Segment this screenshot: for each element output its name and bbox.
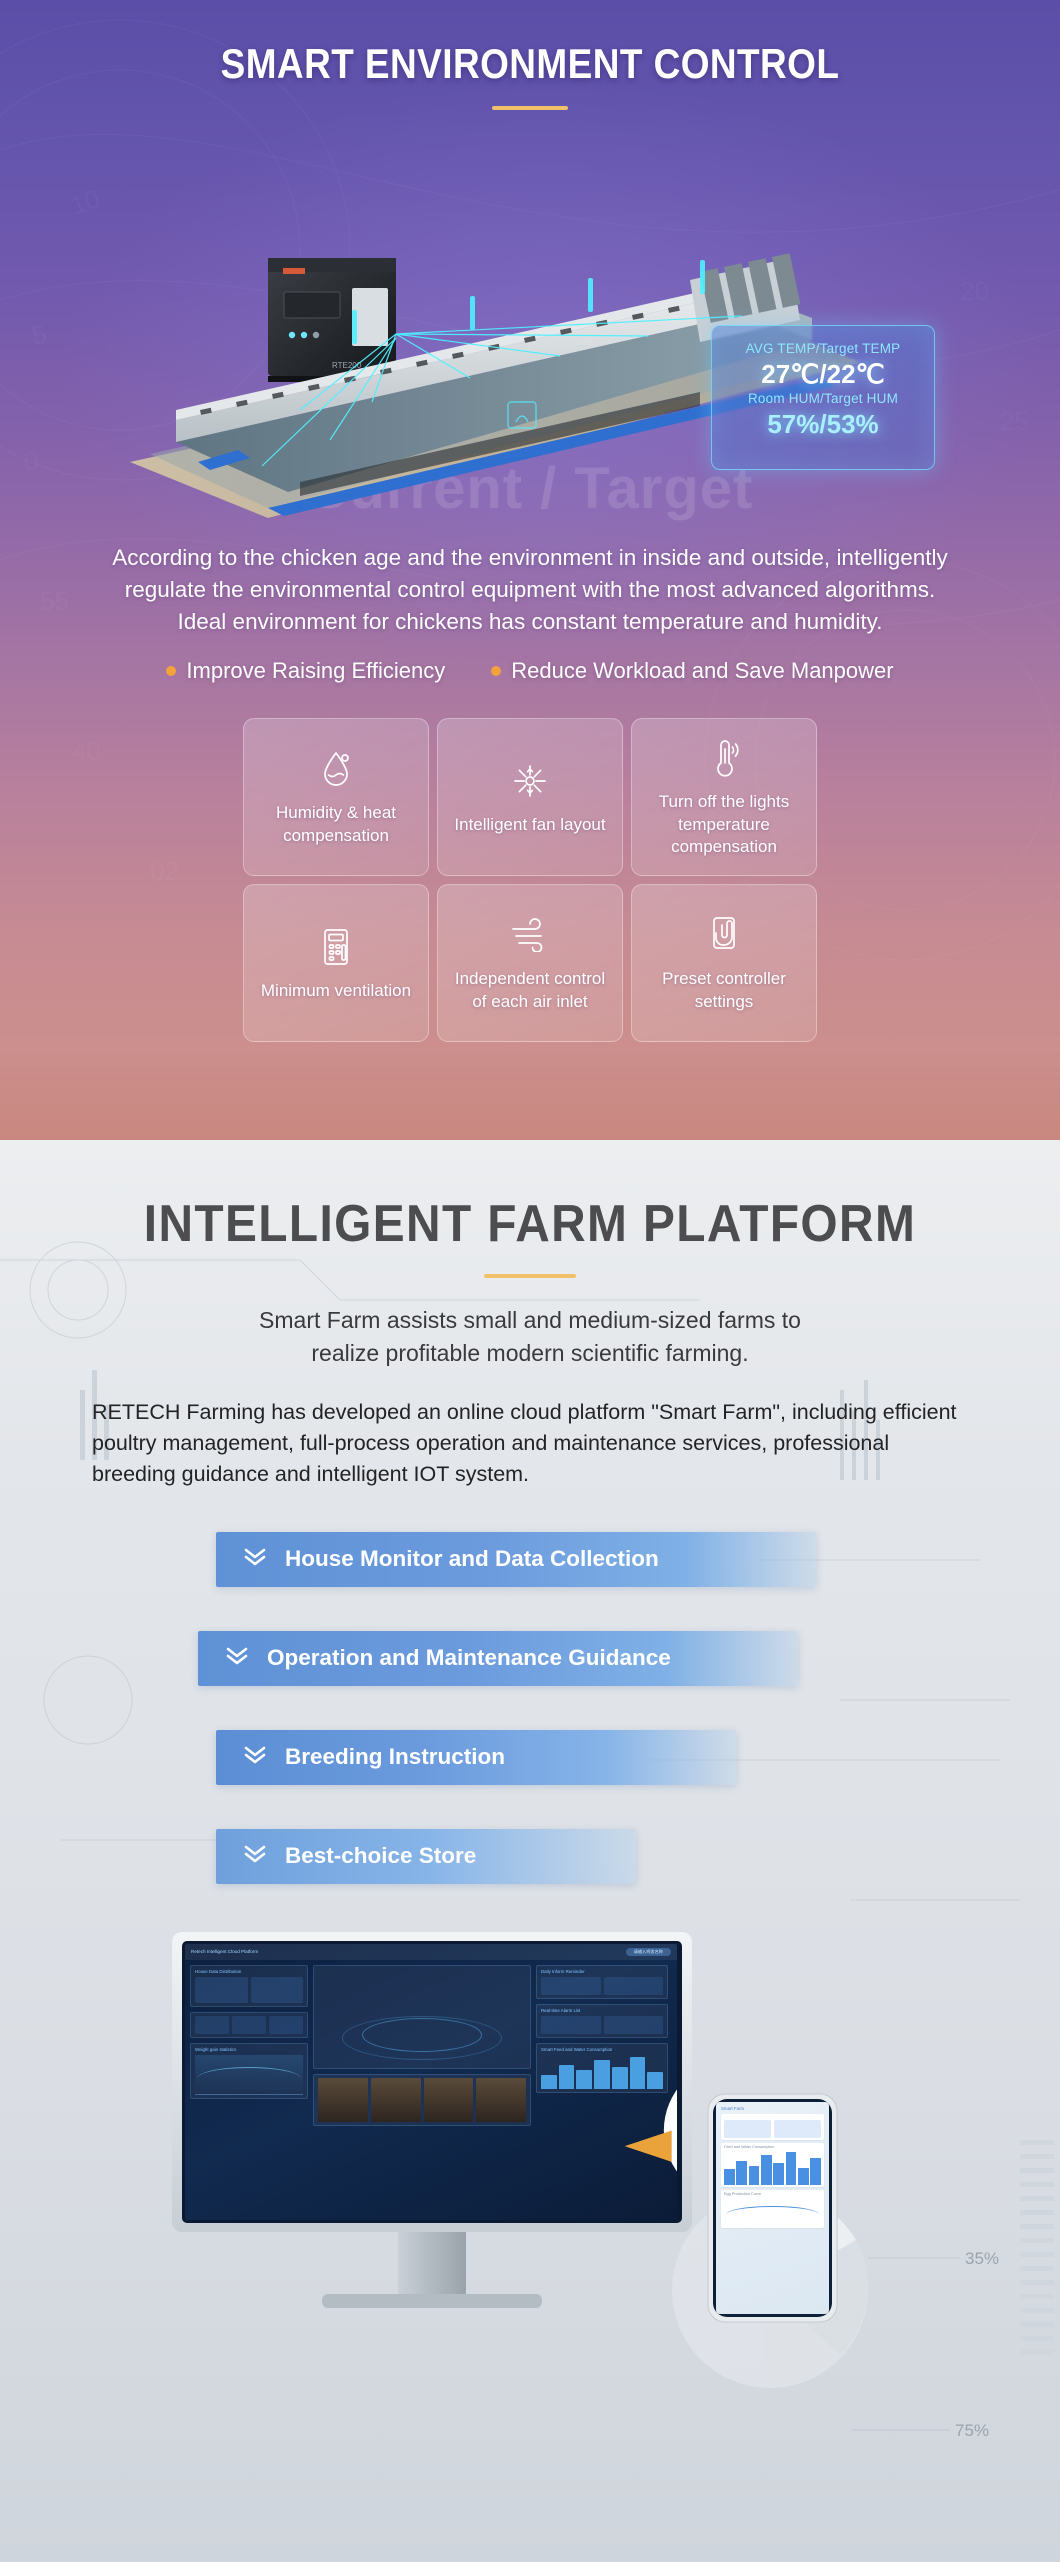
accordion-item-breeding-instruction[interactable]: Breeding Instruction bbox=[216, 1730, 736, 1785]
dashboard-left-column: House Data Distribution bbox=[190, 1965, 308, 2215]
intelligent-farm-platform-section: 35% 75% INTELLIGENT FARM PLATFORM Smart … bbox=[0, 1140, 1060, 2562]
section2-lead: Smart Farm assists small and medium-size… bbox=[0, 1304, 1060, 1371]
kpi-tile bbox=[774, 2120, 821, 2138]
feature-label: Turn off the lights temperature compensa… bbox=[642, 791, 806, 859]
double-chevron-down-icon bbox=[224, 1645, 250, 1671]
section2-title: INTELLIGENT FARM PLATFORM bbox=[42, 1140, 1017, 1254]
benefit-label: Improve Raising Efficiency bbox=[186, 658, 445, 684]
mobile-app-screen: Smart Farm Feed and Water Consumption bbox=[716, 2102, 829, 2314]
mobile-kpi-card bbox=[721, 2114, 824, 2140]
svg-text:RTE200: RTE200 bbox=[332, 361, 362, 370]
room-hum-value: 57%/53% bbox=[712, 408, 934, 441]
section1-description: According to the chicken age and the env… bbox=[0, 530, 1060, 638]
dashboard-center-column bbox=[313, 1965, 531, 2215]
description-line-3: Ideal environment for chickens has const… bbox=[96, 606, 964, 638]
chart-bar bbox=[786, 2152, 797, 2184]
feature-label: Minimum ventilation bbox=[261, 980, 411, 1003]
feature-card[interactable]: Minimum ventilation bbox=[243, 884, 429, 1042]
kpi-row bbox=[724, 2120, 821, 2138]
kpi-row bbox=[195, 2016, 303, 2034]
accordion-row: House Monitor and Data Collection bbox=[0, 1532, 1060, 1587]
chart-bar bbox=[798, 2168, 809, 2185]
bullet-dot-icon bbox=[491, 666, 501, 676]
device-mockups: Retech Intelligent Cloud Platform 请输入鸡舍名… bbox=[0, 1928, 1060, 2398]
feature-card[interactable]: Turn off the lights temperature compensa… bbox=[631, 718, 817, 876]
section2-paragraph: RETECH Farming has developed an online c… bbox=[40, 1397, 1020, 1490]
feature-card[interactable]: Preset controller settings bbox=[631, 884, 817, 1042]
feature-card-grid: Humidity & heat compensation Intelligent… bbox=[240, 718, 820, 1042]
kpi-tile bbox=[195, 2016, 229, 2034]
panel-heading: House Data Distribution bbox=[195, 1969, 303, 1974]
double-chevron-down-icon bbox=[242, 1843, 268, 1869]
feature-label: Independent control of each air inlet bbox=[448, 968, 612, 1013]
chart-bar bbox=[736, 2161, 747, 2185]
feature-card[interactable]: Humidity & heat compensation bbox=[243, 718, 429, 876]
feature-label: Intelligent fan layout bbox=[454, 814, 605, 837]
accordion-label: Operation and Maintenance Guidance bbox=[267, 1645, 671, 1671]
poultry-house-illustration: RTE200 bbox=[0, 110, 1060, 530]
chicken-illustration bbox=[314, 1966, 677, 2220]
mobile-chart-card: Feed and Water Consumption bbox=[721, 2143, 824, 2187]
panel-heading: Weight gain statistics bbox=[195, 2047, 303, 2052]
platform-feature-accordion: House Monitor and Data Collection Operat… bbox=[0, 1532, 1060, 1884]
benefit-label: Reduce Workload and Save Manpower bbox=[511, 658, 893, 684]
benefit-item: Reduce Workload and Save Manpower bbox=[491, 658, 893, 684]
title-underline bbox=[492, 106, 568, 110]
accordion-label: Best-choice Store bbox=[285, 1843, 476, 1869]
desktop-dashboard-screen: Retech Intelligent Cloud Platform 请输入鸡舍名… bbox=[185, 1944, 677, 2220]
svg-text:02: 02 bbox=[150, 856, 179, 886]
avg-temp-value: 27℃/22℃ bbox=[712, 358, 934, 391]
smart-environment-control-section: 10 5 0 55 40 02 20 25 SMART ENVIRONMENT … bbox=[0, 0, 1060, 1140]
mini-tile bbox=[251, 1977, 304, 2003]
bullet-dot-icon bbox=[166, 666, 176, 676]
description-line-1: According to the chicken age and the env… bbox=[96, 542, 964, 574]
dashboard-body: House Data Distribution bbox=[185, 1960, 677, 2220]
avg-temp-label: AVG TEMP/Target TEMP bbox=[712, 340, 934, 358]
kpi-tile bbox=[232, 2016, 266, 2034]
room-hum-label: Room HUM/Target HUM bbox=[712, 390, 934, 408]
chart-bar bbox=[773, 2163, 784, 2184]
water-drop-icon bbox=[319, 746, 353, 792]
mobile-app-header: Smart Farm bbox=[721, 2106, 824, 2111]
mobile-bar-chart bbox=[724, 2151, 821, 2185]
benefit-bullet-list: Improve Raising Efficiency Reduce Worklo… bbox=[0, 658, 1060, 684]
weight-gain-line-chart bbox=[195, 2055, 303, 2095]
chart-bar bbox=[810, 2158, 821, 2185]
wind-airflow-icon bbox=[509, 912, 551, 958]
accordion-row: Breeding Instruction bbox=[0, 1730, 1060, 1785]
accordion-item-best-choice-store[interactable]: Best-choice Store bbox=[216, 1829, 636, 1884]
kpi-tile bbox=[269, 2016, 303, 2034]
calculator-icon bbox=[320, 924, 352, 970]
egg-production-curve bbox=[724, 2196, 821, 2226]
dashboard-panel: House Data Distribution bbox=[190, 1965, 308, 2007]
description-line-2: regulate the environmental control equip… bbox=[96, 574, 964, 606]
kpi-tile bbox=[724, 2120, 771, 2138]
benefit-item: Improve Raising Efficiency bbox=[166, 658, 445, 684]
page-title: SMART ENVIRONMENT CONTROL bbox=[64, 0, 997, 88]
accordion-item-house-monitor[interactable]: House Monitor and Data Collection bbox=[216, 1532, 816, 1587]
mobile-curve-card: Egg Production Curve bbox=[721, 2190, 824, 2228]
svg-text:75%: 75% bbox=[955, 2421, 989, 2440]
feature-card[interactable]: Independent control of each air inlet bbox=[437, 884, 623, 1042]
environment-data-panel: AVG TEMP/Target TEMP 27℃/22℃ Room HUM/Ta… bbox=[711, 325, 935, 470]
snowflake-fan-icon bbox=[511, 758, 549, 804]
section2-title-underline bbox=[484, 1274, 576, 1278]
accordion-row: Operation and Maintenance Guidance bbox=[0, 1631, 1060, 1686]
feature-card[interactable]: Intelligent fan layout bbox=[437, 718, 623, 876]
mini-tiles bbox=[195, 1977, 303, 2003]
double-chevron-down-icon bbox=[242, 1546, 268, 1572]
dashboard-panel bbox=[190, 2012, 308, 2038]
dashboard-panel: Weight gain statistics bbox=[190, 2043, 308, 2099]
dashboard-search-pill[interactable]: 请输入鸡舍名称 bbox=[626, 1948, 671, 1956]
mini-tile bbox=[195, 1977, 248, 2003]
feature-label: Preset controller settings bbox=[642, 968, 806, 1013]
accordion-label: Breeding Instruction bbox=[285, 1744, 505, 1770]
chart-bar bbox=[749, 2166, 760, 2185]
accordion-item-operation-maintenance[interactable]: Operation and Maintenance Guidance bbox=[198, 1631, 798, 1686]
chicken-hero-visual bbox=[313, 1965, 531, 2069]
thermometer-icon bbox=[709, 735, 739, 781]
chart-bar bbox=[761, 2155, 772, 2185]
hand-touch-icon bbox=[707, 912, 741, 958]
double-chevron-down-icon bbox=[242, 1744, 268, 1770]
feature-label: Humidity & heat compensation bbox=[254, 802, 418, 847]
mobile-card-heading: Feed and Water Consumption bbox=[724, 2145, 821, 2149]
svg-text:40: 40 bbox=[72, 736, 101, 766]
lead-line-1: Smart Farm assists small and medium-size… bbox=[150, 1304, 910, 1337]
accordion-row: Best-choice Store bbox=[0, 1829, 1060, 1884]
dashboard-app-title: Retech Intelligent Cloud Platform bbox=[191, 1949, 258, 1954]
dashboard-topbar: Retech Intelligent Cloud Platform 请输入鸡舍名… bbox=[185, 1944, 677, 1960]
chart-bar bbox=[724, 2169, 735, 2184]
lead-line-2: realize profitable modern scientific far… bbox=[150, 1337, 910, 1370]
accordion-label: House Monitor and Data Collection bbox=[285, 1546, 659, 1572]
